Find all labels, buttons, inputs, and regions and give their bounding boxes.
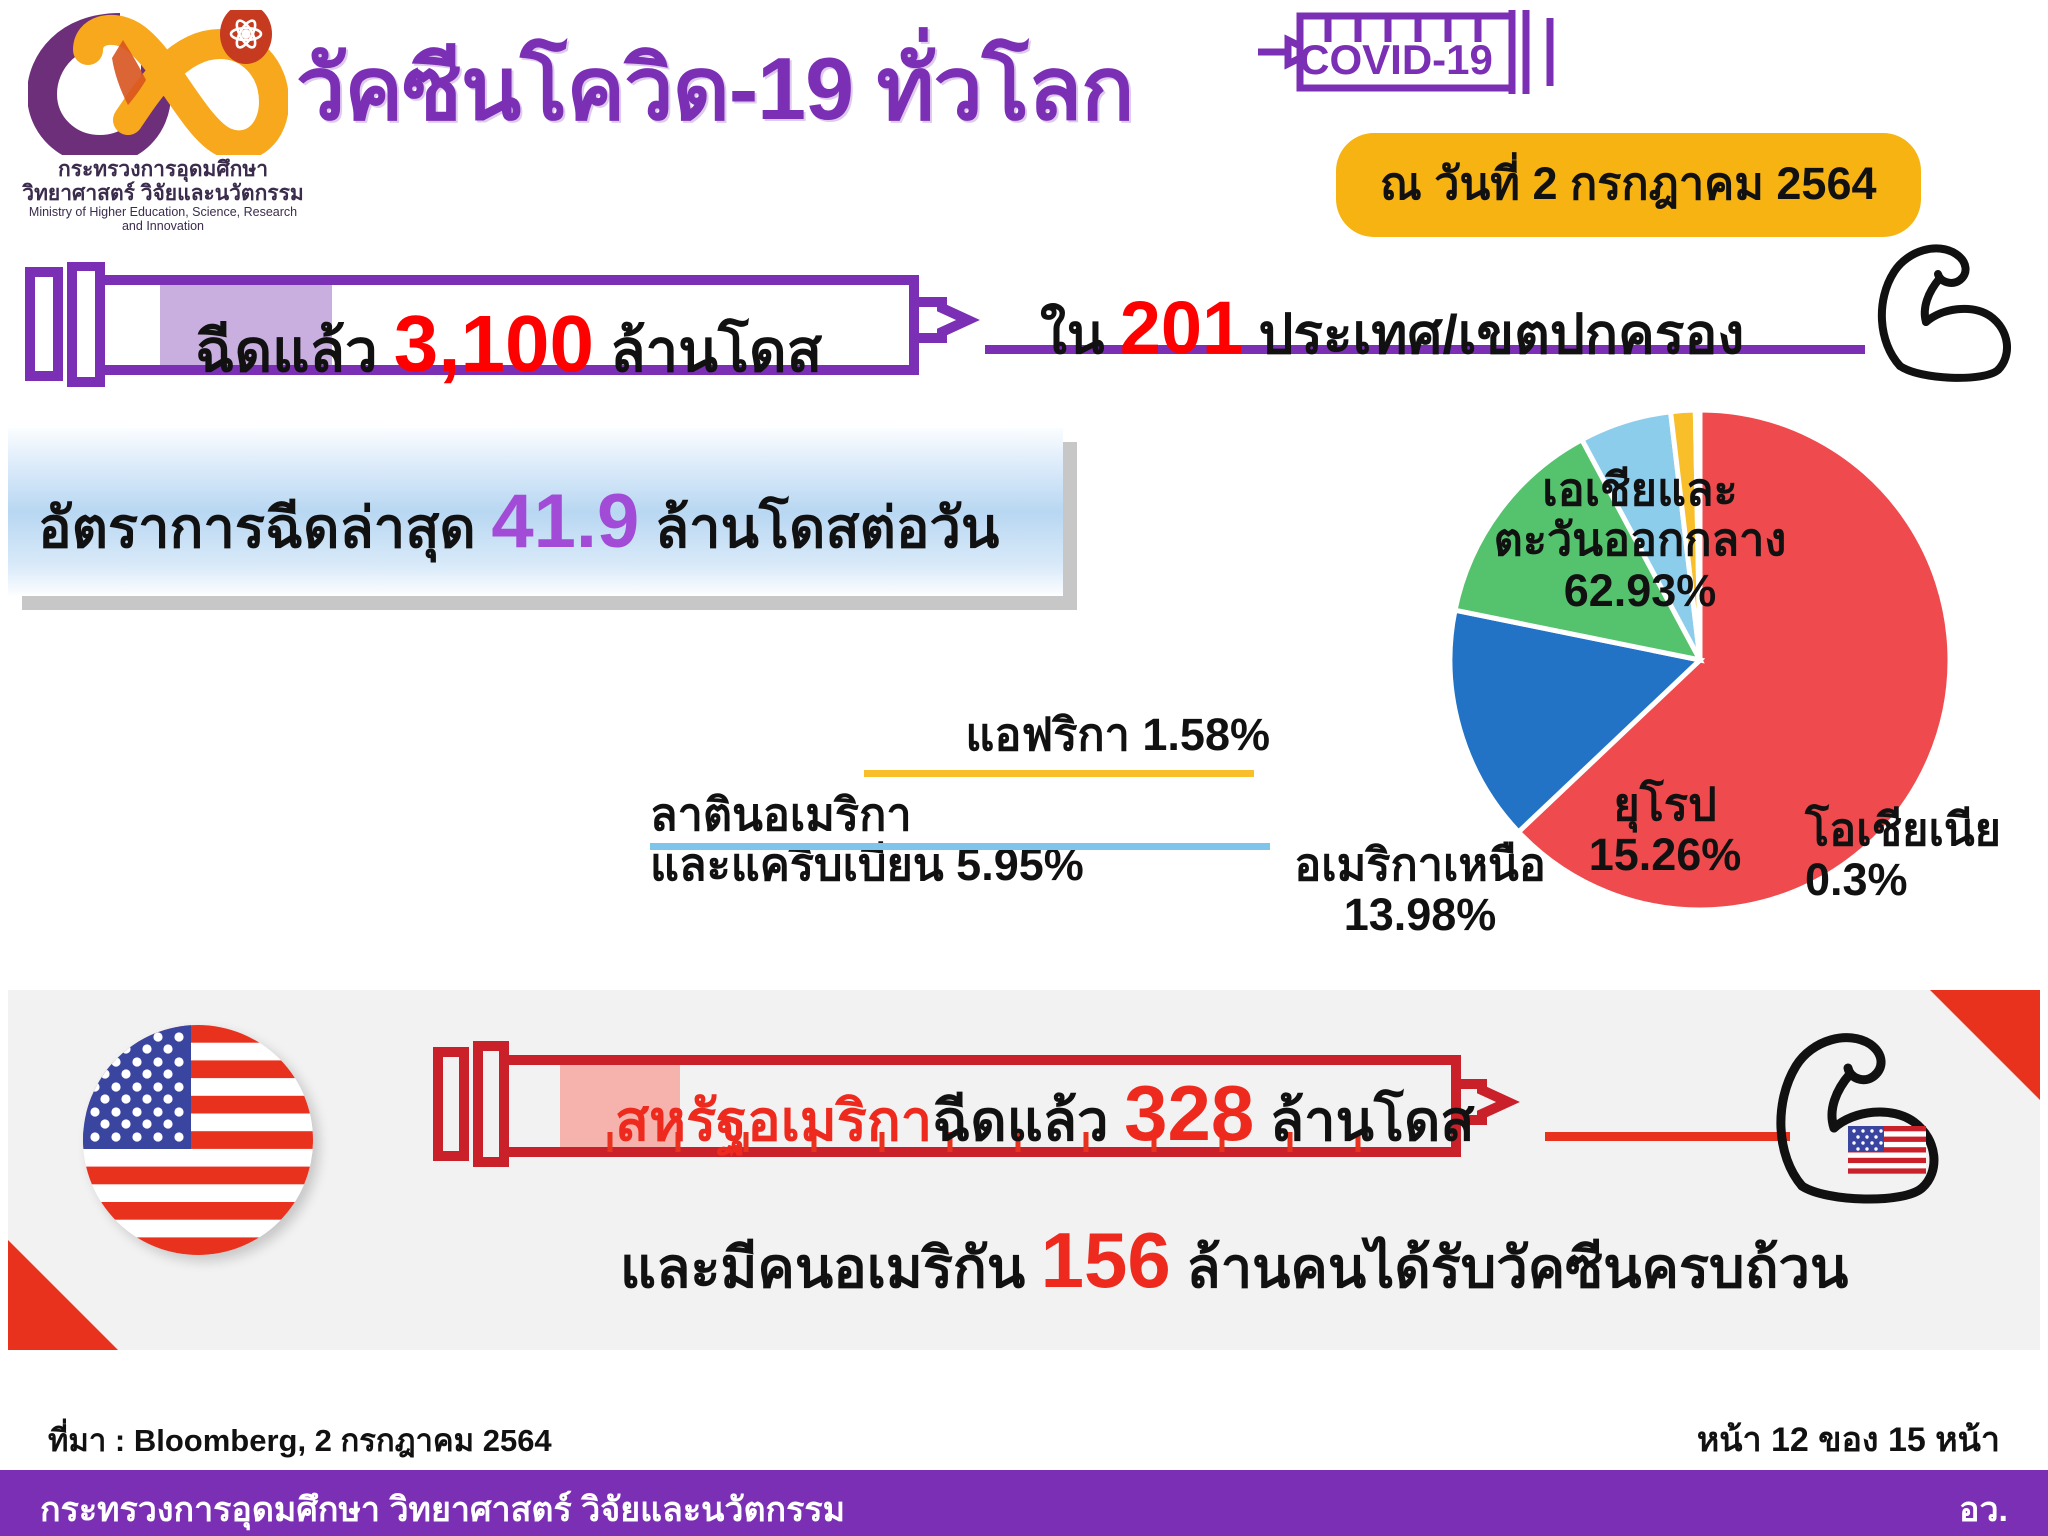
footer-ministry-name: กระทรวงการอุดมศึกษา วิทยาศาสตร์ วิจัยและ… (40, 1482, 845, 1536)
source-text: ที่มา : Bloomberg, 2 กรกฎาคม 2564 (48, 1415, 552, 1465)
countries-suffix: ประเทศ/เขตปกครอง (1258, 303, 1744, 365)
daily-rate-text: อัตราการฉีดล่าสุด 41.9 ล้านโดสต่อวัน (38, 478, 1048, 572)
pie-label-oceania: โอเชียเนีย 0.3% (1805, 805, 2048, 906)
pie-label-asia-l2: ตะวันออกกลาง (1430, 515, 1850, 565)
pie-label-na-pct: 13.98% (1270, 890, 1570, 940)
covid-19-label: COVID-19 (1276, 36, 1516, 84)
countries-value: 201 (1120, 286, 1243, 369)
date-badge: ณ วันที่ 2 กรกฎาคม 2564 (1336, 133, 1921, 237)
ministry-logo: กระทรวงการอุดมศึกษา วิทยาศาสตร์ วิจัยและ… (18, 10, 318, 220)
logo-line1: กระทรวงการอุดมศึกษา (18, 158, 308, 182)
usa-doses-text: สหรัฐอเมริกาฉีดแล้ว 328 ล้านโดส (615, 1068, 1615, 1165)
daily-rate-value: 41.9 (491, 479, 639, 564)
global-doses-prefix: ฉีดแล้ว (195, 319, 378, 384)
pie-label-asia-pct: 62.93% (1430, 566, 1850, 616)
infographic-page: กระทรวงการอุดมศึกษา วิทยาศาสตร์ วิจัยและ… (0, 0, 2048, 1536)
global-doses-suffix: ล้านโดส (610, 319, 822, 384)
page-title: วัคซีนโควิด-19 ทั่วโลก (296, 18, 1133, 158)
usa-doses-unit: ล้านโดส (1270, 1089, 1475, 1152)
pie-label-north-america: อเมริกาเหนือ 13.98% (1270, 840, 1570, 941)
pie-label-europe-name: ยุโรป (1545, 780, 1785, 830)
usa-fully-vaccinated-text: และมีคนอเมริกัน 156 ล้านคนได้รับวัคซีนคร… (620, 1215, 1920, 1312)
pie-label-oceania-pct: 0.3% (1805, 855, 2048, 905)
pie-label-asia-l1: เอเชียและ (1430, 465, 1850, 515)
pie-label-africa: แอฟริกา 1.58% (870, 710, 1270, 760)
usa-fv-value: 156 (1041, 1216, 1171, 1304)
pie-label-latin-l1: ลาตินอเมริกา (650, 790, 1270, 840)
page-number: หน้า 12 ของ 15 หน้า (1697, 1412, 2000, 1466)
usa-country-name: สหรัฐอเมริกา (615, 1089, 932, 1152)
pie-leader-line-latin (650, 843, 1270, 850)
logo-line3: Ministry of Higher Education, Science, R… (18, 205, 308, 233)
logo-line2: วิทยาศาสตร์ วิจัยและนวัตกรรม (18, 182, 308, 206)
daily-rate-prefix: อัตราการฉีดล่าสุด (38, 496, 476, 559)
global-doses-value: 3,100 (394, 299, 594, 388)
pie-label-europe-pct: 15.26% (1545, 830, 1785, 880)
footer-abbrev: อว. (1959, 1482, 2008, 1536)
pie-label-oceania-name: โอเชียเนีย (1805, 805, 2048, 855)
pie-label-latin-america: ลาตินอเมริกา และแคริบเบียน 5.95% (650, 790, 1270, 891)
usa-doses-value: 328 (1124, 1069, 1254, 1157)
pie-leader-line-africa (864, 770, 1254, 777)
usa-fv-prefix: และมีคนอเมริกัน (620, 1236, 1025, 1299)
flexed-arm-usa-icon (1750, 1018, 1980, 1208)
pie-label-na-name: อเมริกาเหนือ (1270, 840, 1570, 890)
usa-verb: ฉีดแล้ว (932, 1089, 1108, 1152)
global-doses-text: ฉีดแล้ว 3,100 ล้านโดส (195, 298, 955, 397)
usa-flag-icon (83, 1025, 313, 1255)
countries-text: ใน 201 ประเทศ/เขตปกครอง (1040, 285, 1744, 378)
logo-mark-icon (28, 10, 288, 155)
pie-label-europe: ยุโรป 15.26% (1545, 780, 1785, 881)
pie-label-asia: เอเชียและ ตะวันออกกลาง 62.93% (1430, 465, 1850, 616)
countries-prefix: ใน (1040, 303, 1104, 365)
footer-bar: กระทรวงการอุดมศึกษา วิทยาศาสตร์ วิจัยและ… (0, 1470, 2048, 1536)
usa-fv-suffix: ล้านคนได้รับวัคซีนครบถ้วน (1186, 1236, 1848, 1299)
logo-subtitle: กระทรวงการอุดมศึกษา วิทยาศาสตร์ วิจัยและ… (18, 158, 308, 233)
flexed-arm-icon (1856, 238, 2036, 383)
corner-triangle-bottom-left (8, 1240, 118, 1350)
daily-rate-suffix: ล้านโดสต่อวัน (655, 496, 999, 559)
